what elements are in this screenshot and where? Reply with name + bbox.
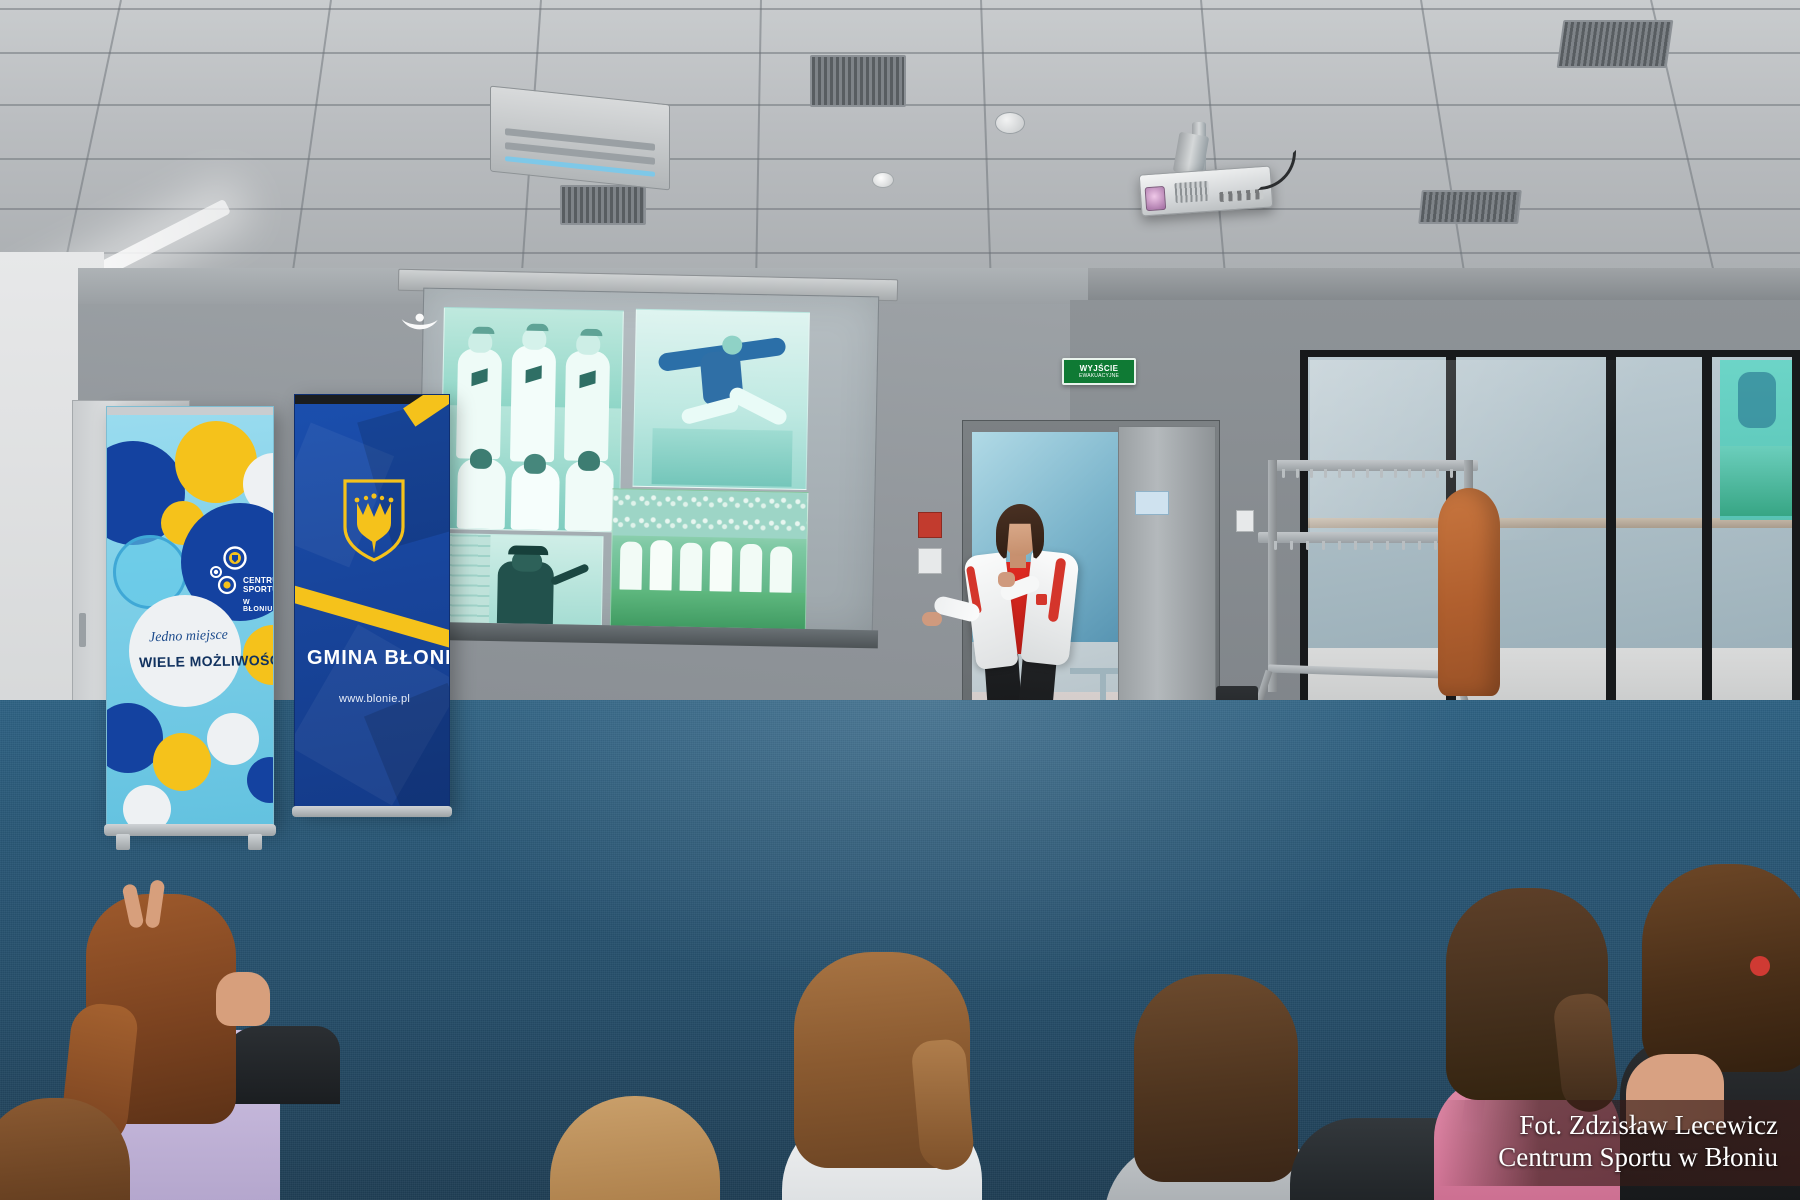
banner-tagline-script: Jedno miejsce <box>149 628 228 647</box>
ceiling-vent <box>1418 190 1522 224</box>
rack-bar-upper <box>1268 460 1478 471</box>
banner-stand-foot <box>116 834 130 850</box>
photo-scene: WYJŚCIE EWAKUACYJNE <box>0 0 1800 1200</box>
banner-gmina-blonie: GMINA BŁONIE www.blonie.pl <box>294 394 450 810</box>
audience-hair <box>1642 864 1800 1072</box>
banner-centrum-sportu: CENTRUM SPORTU W BŁONIU Jedno miejsce WI… <box>106 406 274 826</box>
rack-hook <box>1310 469 1313 478</box>
rack-hook <box>1402 541 1405 550</box>
window-mullion <box>1792 350 1800 750</box>
photo-credit-watermark: Fot. Zdzisław Lecewicz Centrum Sportu w … <box>1438 1100 1800 1186</box>
rack-hook <box>1282 469 1285 478</box>
audience-member <box>0 1098 140 1200</box>
ceiling-speaker <box>995 112 1025 134</box>
decor-circle <box>207 713 259 765</box>
audience-hair-strand <box>910 1038 975 1172</box>
speaker-hand <box>922 612 942 626</box>
ceiling <box>0 0 1800 300</box>
slide-photo-runners <box>610 488 809 630</box>
svg-text:SPORTU: SPORTU <box>243 585 274 594</box>
door-notice <box>1135 491 1169 515</box>
audience-member <box>760 960 1010 1200</box>
notice-sign <box>1236 510 1254 532</box>
audience-hand <box>216 972 270 1026</box>
hanging-coat[interactable] <box>1438 488 1500 696</box>
decor-circle <box>153 733 211 791</box>
audience-arm <box>220 1026 340 1104</box>
banner-stand-base <box>292 806 452 817</box>
projector-ports <box>1219 189 1264 202</box>
rack-hook <box>1380 469 1383 478</box>
rack-hook <box>1408 469 1411 478</box>
window-mullion <box>1300 350 1800 357</box>
rack-upright <box>1268 460 1277 692</box>
smoke-detector <box>872 172 894 188</box>
floor-light-sheen <box>380 700 1480 1000</box>
audience-hair <box>1134 974 1298 1182</box>
decor-circle <box>123 785 171 826</box>
rack-hook <box>1418 541 1421 550</box>
projector-lens <box>1145 186 1167 211</box>
rack-hook <box>1352 469 1355 478</box>
banner-title: GMINA BŁONIE <box>307 647 450 670</box>
ceiling-vent <box>1557 20 1674 68</box>
fire-sign <box>918 512 942 538</box>
ceiling-vent <box>810 55 906 107</box>
watermark-line-1: Fot. Zdzisław Lecewicz <box>1498 1110 1778 1142</box>
audience-hair-tie <box>1750 956 1770 976</box>
slide-photo-longjump <box>633 309 810 490</box>
rack-hook <box>1338 469 1341 478</box>
decor-circle-tagline <box>129 595 241 707</box>
watermark-line-2: Centrum Sportu w Błoniu <box>1498 1142 1778 1174</box>
exit-sign-line2: EWAKUACYJNE <box>1079 374 1119 379</box>
projector-vent <box>1174 181 1209 203</box>
slide-photo-team <box>440 307 624 532</box>
audience-hair <box>550 1096 720 1200</box>
exit-sign-line1: WYJŚCIE <box>1080 365 1119 373</box>
rack-hook <box>1370 541 1373 550</box>
rack-hook <box>1434 541 1437 550</box>
rack-hook <box>1324 469 1327 478</box>
svg-text:CENTRUM: CENTRUM <box>243 576 274 585</box>
banner-stand-foot <box>248 834 262 850</box>
air-conditioner <box>490 86 670 191</box>
rack-hook <box>1422 469 1425 478</box>
emergency-exit-sign: WYJŚCIE EWAKUACYJNE <box>1062 358 1136 385</box>
logo-centrum-sportu: CENTRUM SPORTU <box>205 545 274 601</box>
logo-subline: W BŁONIU <box>243 599 273 613</box>
banner-url: www.blonie.pl <box>339 693 410 705</box>
rack-hook <box>1338 541 1341 550</box>
banner-top-rail <box>107 407 273 415</box>
ceiling-vent <box>560 185 646 225</box>
door-handle[interactable] <box>79 613 86 647</box>
fire-instruction-sign <box>918 548 942 574</box>
slide-photo-starter <box>426 533 604 626</box>
crest-gmina-blonie <box>339 475 409 563</box>
rack-hook <box>1394 469 1397 478</box>
rack-hook <box>1306 541 1309 550</box>
projector-cable <box>1258 150 1296 190</box>
rack-hook <box>1366 469 1369 478</box>
rack-hook <box>1450 469 1453 478</box>
slide-swoosh-icon <box>399 310 439 337</box>
projection-screen <box>417 288 879 635</box>
decor-circle <box>247 757 274 803</box>
rack-hook <box>1322 541 1325 550</box>
rack-hook <box>1290 541 1293 550</box>
audience-hair <box>0 1098 130 1200</box>
rack-hook <box>1274 541 1277 550</box>
rack-hook <box>1354 541 1357 550</box>
rack-hook <box>1386 541 1389 550</box>
rack-hook <box>1436 469 1439 478</box>
rack-hook <box>1296 469 1299 478</box>
audience-member <box>540 1096 730 1200</box>
banner-tagline-bold: WIELE MOŻLIWOŚCI <box>139 652 274 671</box>
speaker-jacket-emblem <box>1036 594 1047 605</box>
speaker-hand <box>998 572 1015 587</box>
